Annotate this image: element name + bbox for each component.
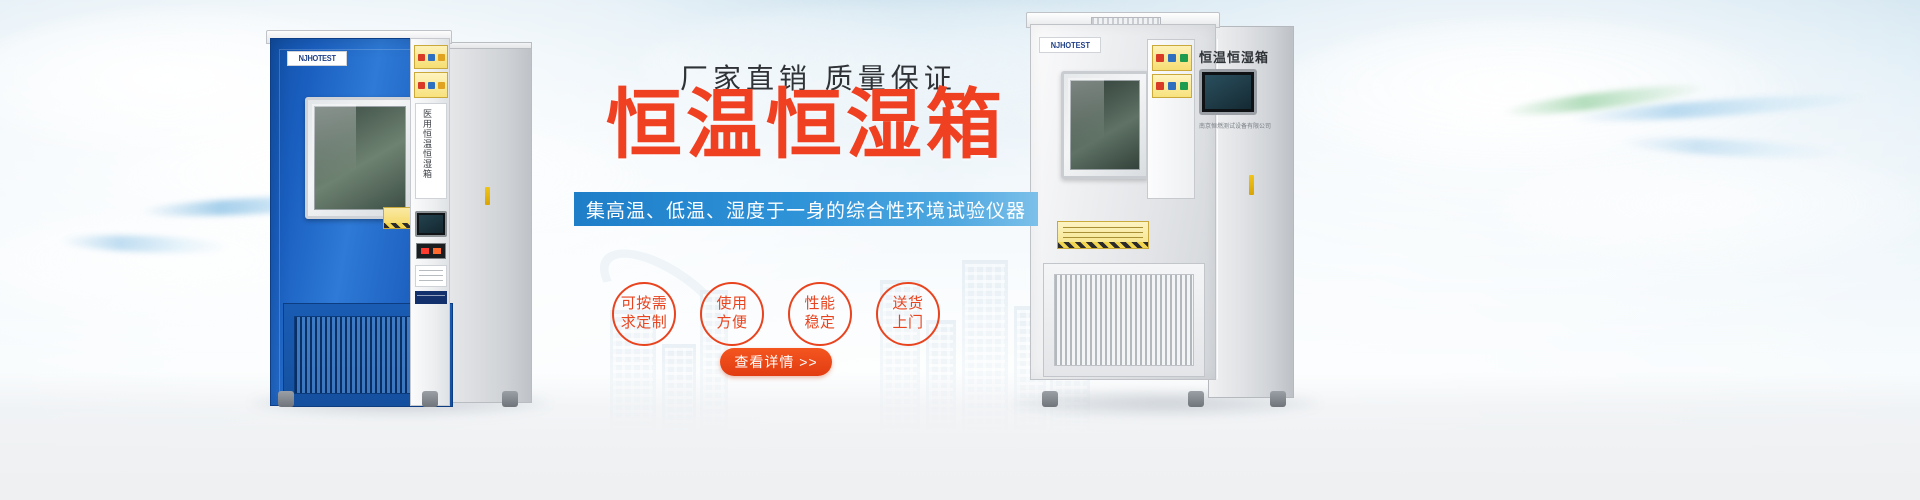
badge-line-1: 使用 [716,295,747,314]
latch-icon [485,187,490,205]
badge-line-2: 上门 [892,314,923,333]
hmi-screen [415,211,447,237]
promo-banner: NJHOTEST 医用恒温恒湿箱 [0,0,1920,500]
company-subtext: 南京恒燃测试设备有限公司 [1199,121,1271,130]
chamber-side-panel [440,48,532,403]
control-column [1147,39,1195,199]
badge-line-1: 送货 [892,295,923,314]
badge-line-1: 性能 [804,295,835,314]
safety-sticker [1152,45,1192,71]
feature-badge-row: 可按需 求定制 使用 方便 性能 稳定 送货 上门 [612,282,940,346]
safety-sticker [414,45,448,69]
safety-sticker [414,72,448,98]
feature-badge-stable[interactable]: 性能 稳定 [788,282,852,346]
brand-plate: NJHOTEST [287,51,347,66]
cloud-shape [1500,150,1920,270]
control-plate [415,265,447,287]
product-title-text: 恒温恒湿箱 [1199,47,1269,66]
viewing-window [305,97,415,219]
hmi-screen [1199,69,1257,115]
banner-subtitle-text: 集高温、低温、湿度于一身的综合性环境试验仪器 [586,196,1026,223]
view-details-button[interactable]: 查看详情 >> [720,348,832,376]
badge-line-2: 稳定 [804,314,835,333]
control-column: 医用恒温恒湿箱 [410,38,450,406]
feature-badge-delivery[interactable]: 送货 上门 [876,282,940,346]
badge-line-2: 求定制 [621,314,668,333]
led-display [416,243,446,259]
brand-label: NJHOTEST [298,54,335,63]
feature-badge-custom[interactable]: 可按需 求定制 [612,282,676,346]
banner-subtitle-bar: 集高温、低温、湿度于一身的综合性环境试验仪器 [574,192,1038,226]
badge-line-2: 方便 [716,314,747,333]
badge-line-1: 可按需 [621,295,668,314]
view-details-label: 查看详情 >> [734,352,817,372]
banner-copy-block: 厂家直销 质量保证 恒温恒湿箱 集高温、低温、湿度于一身的综合性环境试验仪器 可… [560,0,1080,500]
safety-sticker [1152,74,1192,98]
panel-vertical-text: 医用恒温恒湿箱 [421,109,434,179]
company-nameplate [415,291,447,304]
feature-badge-easy-use[interactable]: 使用 方便 [700,282,764,346]
banner-headline: 恒温恒湿箱 [606,88,1006,164]
latch-icon [1249,175,1254,195]
product-image-left: NJHOTEST 医用恒温恒湿箱 [262,30,532,405]
